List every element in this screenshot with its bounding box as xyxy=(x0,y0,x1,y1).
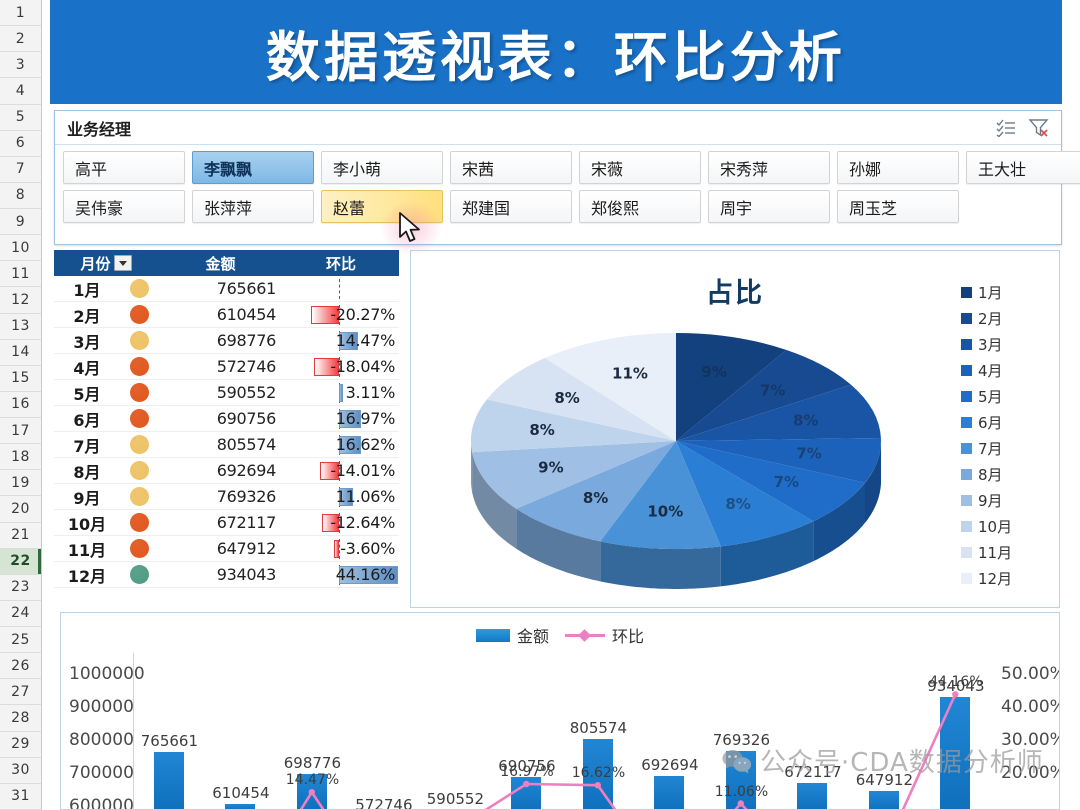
cell-mom-value: 16.97% xyxy=(336,406,395,432)
pivot-header-row: 月份 金额 环比 xyxy=(54,250,399,276)
status-circle-icon xyxy=(120,409,158,428)
legend-label-amount: 金额 xyxy=(517,623,549,647)
bar-data-label: 647912 xyxy=(856,771,913,789)
status-circle-icon xyxy=(120,305,158,324)
row-number[interactable]: 4 xyxy=(0,78,41,104)
combo-chart-legend: 金额 环比 xyxy=(61,623,1059,647)
cell-mom-value: 44.16% xyxy=(336,562,395,588)
table-row: 2月610454-20.27% xyxy=(54,302,399,328)
legend-swatch xyxy=(961,365,972,376)
slicer-button[interactable]: 孙娜 xyxy=(837,151,959,184)
slicer-button[interactable]: 吴伟豪 xyxy=(63,190,185,223)
cell-mom: -18.04% xyxy=(278,354,399,380)
pie-data-label: 8% xyxy=(529,421,554,439)
row-number[interactable]: 7 xyxy=(0,157,41,183)
row-number[interactable]: 25 xyxy=(0,627,41,653)
row-number[interactable]: 29 xyxy=(0,732,41,758)
line-data-label: 44.16% xyxy=(929,674,982,690)
cursor-highlight xyxy=(380,200,442,256)
multi-select-icon[interactable] xyxy=(993,116,1019,140)
cell-mom: 3.11% xyxy=(278,380,399,406)
pie-chart-plot: 9%7%8%7%7%8%10%8%9%8%8%11% xyxy=(441,321,911,591)
cell-amount: 805574 xyxy=(158,435,278,454)
legend-label: 3月 xyxy=(978,334,1003,355)
cell-amount: 692694 xyxy=(158,461,278,480)
row-number[interactable]: 17 xyxy=(0,418,41,444)
cell-month: 3月 xyxy=(54,329,120,353)
cell-mom: 14.47% xyxy=(278,328,399,354)
cell-month: 4月 xyxy=(54,355,120,379)
slicer-button[interactable]: 周宇 xyxy=(708,190,830,223)
slicer-title: 业务经理 xyxy=(67,116,987,140)
sheet-canvas: 数据透视表：环比分析 业务经理 xyxy=(42,0,1080,810)
slicer-button[interactable]: 王大壮 xyxy=(966,151,1080,184)
chart-bar xyxy=(225,804,255,810)
pie-data-label: 11% xyxy=(612,365,648,383)
slicer-panel: 业务经理 xyxy=(54,110,1062,245)
row-number[interactable]: 22 xyxy=(0,549,41,575)
legend-item: 12月 xyxy=(961,565,1047,591)
cell-mom-value: -3.60% xyxy=(340,536,395,562)
cell-mom: -14.01% xyxy=(278,458,399,484)
page-title: 数据透视表：环比分析 xyxy=(266,13,846,92)
cell-amount: 698776 xyxy=(158,331,278,350)
row-number[interactable]: 20 xyxy=(0,496,41,522)
pivot-col-month: 月份 xyxy=(54,253,158,274)
cell-amount: 765661 xyxy=(158,279,278,298)
row-number[interactable]: 6 xyxy=(0,131,41,157)
chart-bar xyxy=(797,783,827,810)
chart-bar xyxy=(869,791,899,810)
line-data-label: 16.62% xyxy=(572,765,625,781)
pie-data-label: 8% xyxy=(793,411,818,429)
row-number[interactable]: 14 xyxy=(0,340,41,366)
cell-month: 6月 xyxy=(54,407,120,431)
slicer-button[interactable]: 李飘飘 xyxy=(192,151,314,184)
status-circle-icon xyxy=(120,331,158,350)
legend-label: 7月 xyxy=(978,438,1003,459)
cell-mom: 11.06% xyxy=(278,484,399,510)
cell-mom-value: 11.06% xyxy=(336,484,395,510)
row-number[interactable]: 24 xyxy=(0,601,41,627)
row-number[interactable]: 16 xyxy=(0,392,41,418)
cell-mom-value: 14.47% xyxy=(336,328,395,354)
slicer-button[interactable]: 张萍萍 xyxy=(192,190,314,223)
cell-amount: 690756 xyxy=(158,409,278,428)
cell-amount: 647912 xyxy=(158,539,278,558)
legend-label: 8月 xyxy=(978,464,1003,485)
combo-chart-card: 金额 环比 100000090000080000070000060000050.… xyxy=(60,612,1060,810)
pie-data-label: 7% xyxy=(760,382,785,400)
legend-swatch-amount xyxy=(476,629,510,642)
cell-month: 5月 xyxy=(54,381,120,405)
legend-item: 7月 xyxy=(961,435,1047,461)
pie-chart-card: 占比 9%7%8%7%7%8%10%8%9%8%8%11% 1月2月3月4月5月… xyxy=(410,250,1060,608)
table-row: 8月692694-14.01% xyxy=(54,458,399,484)
row-number[interactable]: 28 xyxy=(0,705,41,731)
status-circle-icon xyxy=(120,513,158,532)
cell-month: 12月 xyxy=(54,563,120,587)
cell-month: 11月 xyxy=(54,537,120,561)
cell-mom-value: 16.62% xyxy=(336,432,395,458)
legend-item: 11月 xyxy=(961,539,1047,565)
row-number[interactable]: 11 xyxy=(0,261,41,287)
table-row: 5月5905523.11% xyxy=(54,380,399,406)
bar-data-label: 572746 xyxy=(355,796,412,810)
legend-item: 1月 xyxy=(961,279,1047,305)
slicer-button[interactable]: 宋薇 xyxy=(579,151,701,184)
pivot-col-month-label: 月份 xyxy=(80,253,110,274)
pie-svg: 9%7%8%7%7%8%10%8%9%8%8%11% xyxy=(441,321,911,591)
cell-amount: 769326 xyxy=(158,487,278,506)
table-row: 10月672117-12.64% xyxy=(54,510,399,536)
row-number[interactable]: 18 xyxy=(0,444,41,470)
slicer-button[interactable]: 郑建国 xyxy=(450,190,572,223)
cell-month: 9月 xyxy=(54,485,120,509)
legend-swatch xyxy=(961,339,972,350)
cell-mom: -12.64% xyxy=(278,510,399,536)
table-row: 11月647912-3.60% xyxy=(54,536,399,562)
cell-mom: -20.27% xyxy=(278,302,399,328)
legend-item: 8月 xyxy=(961,461,1047,487)
bar-data-label: 765661 xyxy=(141,732,198,750)
cell-mom: -3.60% xyxy=(278,536,399,562)
cell-month: 1月 xyxy=(54,277,120,301)
pie-data-label: 10% xyxy=(647,503,683,521)
pie-data-label: 8% xyxy=(583,489,608,507)
table-row: 3月69877614.47% xyxy=(54,328,399,354)
pivot-col-mom: 环比 xyxy=(283,253,399,274)
legend-swatch xyxy=(961,547,972,558)
legend-label: 9月 xyxy=(978,490,1003,511)
y-axis-tick-right: 40.00% xyxy=(1001,697,1060,717)
slicer-button[interactable]: 宋秀萍 xyxy=(708,151,830,184)
y-axis-tick-left: 800000 xyxy=(69,730,134,750)
status-circle-icon xyxy=(120,461,158,480)
legend-label: 11月 xyxy=(978,542,1012,563)
y-axis-tick-left: 900000 xyxy=(69,697,134,717)
cell-mom: 16.62% xyxy=(278,432,399,458)
row-number[interactable]: 26 xyxy=(0,653,41,679)
legend-item-mom: 环比 xyxy=(565,623,644,647)
table-row: 12月93404344.16% xyxy=(54,562,399,588)
line-data-label: 16.97% xyxy=(500,764,553,780)
legend-swatch xyxy=(961,313,972,324)
pivot-table: 月份 金额 环比 1月7656612月610454-20.27%3月698776… xyxy=(54,250,399,588)
cell-amount: 590552 xyxy=(158,383,278,402)
pie-data-label: 9% xyxy=(701,363,726,381)
table-row: 9月76932611.06% xyxy=(54,484,399,510)
row-number[interactable]: 15 xyxy=(0,366,41,392)
row-number[interactable]: 2 xyxy=(0,26,41,52)
legend-label: 6月 xyxy=(978,412,1003,433)
slicer-button[interactable]: 李小萌 xyxy=(321,151,443,184)
row-number[interactable]: 19 xyxy=(0,470,41,496)
legend-label: 1月 xyxy=(978,282,1003,303)
legend-item: 4月 xyxy=(961,357,1047,383)
row-number[interactable]: 30 xyxy=(0,758,41,784)
legend-item: 2月 xyxy=(961,305,1047,331)
cell-mom-value: -12.64% xyxy=(330,510,395,536)
pie-chart-legend: 1月2月3月4月5月6月7月8月9月10月11月12月 xyxy=(961,279,1047,591)
row-number[interactable]: 1 xyxy=(0,0,41,26)
legend-swatch xyxy=(961,573,972,584)
line-data-label: 14.47% xyxy=(286,772,339,788)
bar-data-label: 769326 xyxy=(713,731,770,749)
cell-month: 10月 xyxy=(54,511,120,535)
legend-swatch xyxy=(961,495,972,506)
legend-label: 12月 xyxy=(978,568,1012,589)
chart-bar xyxy=(726,751,756,810)
legend-label: 4月 xyxy=(978,360,1003,381)
table-row: 4月572746-18.04% xyxy=(54,354,399,380)
cell-amount: 672117 xyxy=(158,513,278,532)
legend-swatch xyxy=(961,417,972,428)
bar-data-label: 590552 xyxy=(427,790,484,808)
cell-mom: 44.16% xyxy=(278,562,399,588)
status-circle-icon xyxy=(120,383,158,402)
row-number[interactable]: 13 xyxy=(0,314,41,340)
table-row: 1月765661 xyxy=(54,276,399,302)
line-data-label: 11.06% xyxy=(715,784,768,800)
row-number[interactable]: 5 xyxy=(0,105,41,131)
status-circle-icon xyxy=(120,487,158,506)
legend-item: 9月 xyxy=(961,487,1047,513)
cell-mom-value: -20.27% xyxy=(330,302,395,328)
row-number[interactable]: 23 xyxy=(0,575,41,601)
row-header-gutter: 1234567891011121314151617181920212223242… xyxy=(0,0,42,810)
bar-data-label: 672117 xyxy=(784,763,841,781)
legend-label: 5月 xyxy=(978,386,1003,407)
row-number[interactable]: 9 xyxy=(0,209,41,235)
legend-item-amount: 金额 xyxy=(476,623,549,647)
legend-item: 6月 xyxy=(961,409,1047,435)
dashboard-title-banner: 数据透视表：环比分析 xyxy=(50,0,1062,104)
pie-data-label: 8% xyxy=(725,495,750,513)
row-number[interactable]: 3 xyxy=(0,52,41,78)
y-axis-tick-right: 50.00% xyxy=(1001,664,1060,684)
legend-swatch-mom xyxy=(565,634,605,637)
slicer-button-grid: 高平李飘飘李小萌宋茜宋薇宋秀萍孙娜王大壮吴伟豪张萍萍赵蕾郑建国郑俊熙周宇周玉芝 xyxy=(55,145,1061,237)
y-axis-tick-left: 700000 xyxy=(69,763,134,783)
slicer-button[interactable]: 宋茜 xyxy=(450,151,572,184)
slicer-button[interactable]: 高平 xyxy=(63,151,185,184)
chart-bar xyxy=(511,777,541,810)
legend-label: 2月 xyxy=(978,308,1003,329)
combo-chart-plot: 100000090000080000070000060000050.00%40.… xyxy=(61,653,1060,810)
chart-bar xyxy=(154,752,184,810)
slicer-row: 吴伟豪张萍萍赵蕾郑建国郑俊熙周宇周玉芝 xyxy=(63,190,1053,223)
clear-filter-icon[interactable] xyxy=(1025,116,1051,140)
legend-swatch xyxy=(961,443,972,454)
status-circle-icon xyxy=(120,357,158,376)
row-number[interactable]: 8 xyxy=(0,183,41,209)
month-filter-dropdown[interactable] xyxy=(114,255,132,271)
cell-amount: 934043 xyxy=(158,565,278,584)
pie-data-label: 9% xyxy=(538,459,563,477)
cell-month: 2月 xyxy=(54,303,120,327)
chart-bar xyxy=(940,697,970,810)
slicer-button[interactable]: 郑俊熙 xyxy=(579,190,701,223)
status-circle-icon xyxy=(120,539,158,558)
bar-data-label: 692694 xyxy=(641,756,698,774)
cell-mom: 16.97% xyxy=(278,406,399,432)
pie-data-label: 7% xyxy=(774,473,799,491)
pivot-col-amount: 金额 xyxy=(158,253,283,274)
bar-data-label: 610454 xyxy=(212,784,269,802)
cell-mom xyxy=(278,276,399,302)
chart-bar xyxy=(654,776,684,810)
y-axis-tick-left: 600000 xyxy=(69,796,134,810)
slicer-header: 业务经理 xyxy=(55,111,1061,145)
table-row: 7月80557416.62% xyxy=(54,432,399,458)
pivot-body: 1月7656612月610454-20.27%3月69877614.47%4月5… xyxy=(54,276,399,588)
legend-swatch xyxy=(961,391,972,402)
cell-month: 8月 xyxy=(54,459,120,483)
pie-data-label: 7% xyxy=(796,445,821,463)
legend-item: 10月 xyxy=(961,513,1047,539)
row-number[interactable]: 12 xyxy=(0,287,41,313)
y-axis-tick-right: 20.00% xyxy=(1001,763,1060,783)
legend-label-mom: 环比 xyxy=(612,623,644,647)
cell-amount: 572746 xyxy=(158,357,278,376)
y-axis-tick-right: 30.00% xyxy=(1001,730,1060,750)
row-number[interactable]: 10 xyxy=(0,235,41,261)
legend-swatch xyxy=(961,287,972,298)
row-number[interactable]: 21 xyxy=(0,523,41,549)
legend-label: 10月 xyxy=(978,516,1012,537)
table-row: 6月69075616.97% xyxy=(54,406,399,432)
legend-swatch xyxy=(961,469,972,480)
row-number[interactable]: 27 xyxy=(0,679,41,705)
cell-mom-value: 3.11% xyxy=(346,380,395,406)
status-circle-icon xyxy=(120,279,158,298)
row-number[interactable]: 31 xyxy=(0,784,41,810)
excel-worksheet: 1234567891011121314151617181920212223242… xyxy=(0,0,1080,810)
bar-data-label: 805574 xyxy=(570,719,627,737)
y-axis-line xyxy=(133,653,134,810)
legend-swatch xyxy=(961,521,972,532)
cell-mom-value: -18.04% xyxy=(330,354,395,380)
chevron-down-icon xyxy=(119,261,127,266)
pie-data-label: 8% xyxy=(554,389,579,407)
legend-item: 3月 xyxy=(961,331,1047,357)
status-circle-icon xyxy=(120,565,158,584)
slicer-button[interactable]: 周玉芝 xyxy=(837,190,959,223)
bar-data-label: 698776 xyxy=(284,754,341,772)
legend-item: 5月 xyxy=(961,383,1047,409)
status-circle-icon xyxy=(120,435,158,454)
cell-amount: 610454 xyxy=(158,305,278,324)
cell-mom-value: -14.01% xyxy=(330,458,395,484)
cell-month: 7月 xyxy=(54,433,120,457)
slicer-row: 高平李飘飘李小萌宋茜宋薇宋秀萍孙娜王大壮 xyxy=(63,151,1053,184)
